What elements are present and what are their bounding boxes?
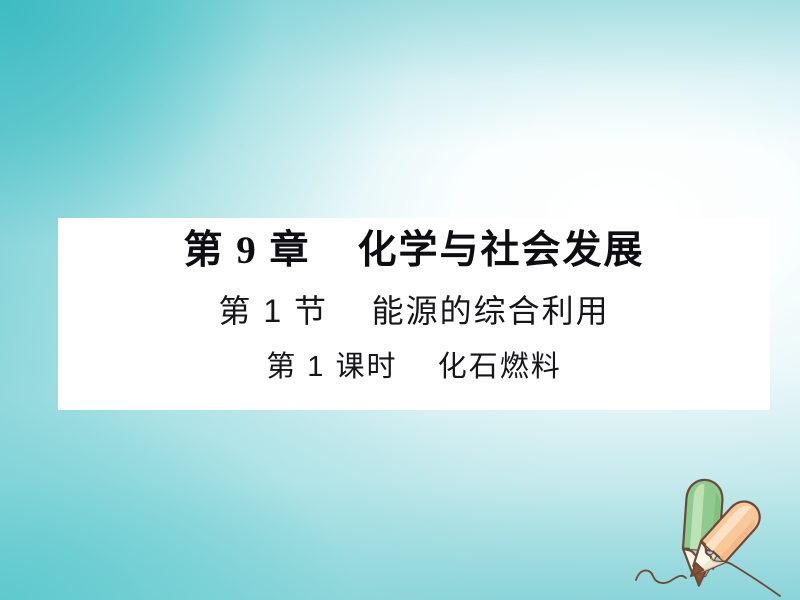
chapter-title: 第 9 章 化学与社会发展 — [183, 224, 644, 278]
pencil-decoration — [620, 468, 800, 600]
title-block: 第 9 章 化学与社会发展 第 1 节 能源的综合利用 第 1 课时 化石燃料 — [58, 218, 770, 410]
lesson-title: 第 1 课时 化石燃料 — [266, 344, 561, 390]
pencil-scribble-line-right — [713, 562, 780, 596]
section-title: 第 1 节 能源的综合利用 — [218, 286, 609, 336]
pencil-scribble-line-left — [636, 570, 686, 583]
slide-canvas: 第 9 章 化学与社会发展 第 1 节 能源的综合利用 第 1 课时 化石燃料 — [0, 0, 800, 600]
